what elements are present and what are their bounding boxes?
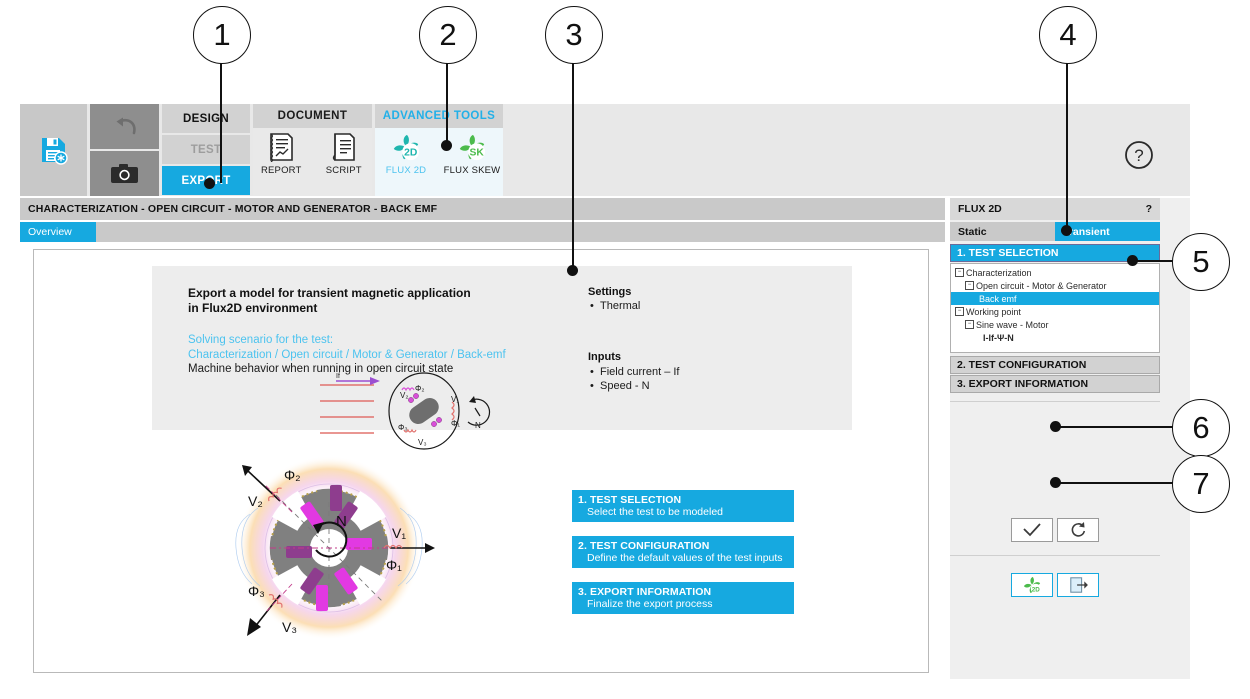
step-box-1: 1. TEST SELECTION Select the test to be … <box>572 490 794 522</box>
svg-text:N: N <box>475 421 481 430</box>
svg-text:If: If <box>336 373 340 380</box>
tab-static[interactable]: Static <box>950 222 1055 241</box>
reset-icon <box>1069 521 1087 539</box>
inputs-list: •Field current – If •Speed - N <box>590 365 679 393</box>
report-icon <box>268 132 294 162</box>
application-window: DESIGN TEST EXPORT DOCUMENT REPORT <box>20 104 1190 679</box>
section-test-selection-label: 1. TEST SELECTION <box>957 247 1059 259</box>
summary-heading-line1: Export a model for transient magnetic ap… <box>188 286 471 301</box>
step-desc: Define the default values of the test in… <box>578 552 794 565</box>
export-file-icon <box>1067 576 1089 594</box>
callout-3: 3 <box>545 6 603 64</box>
summary-panel: Export a model for transient magnetic ap… <box>152 266 852 430</box>
settings-item-label: Thermal <box>600 300 640 312</box>
svg-text:?: ? <box>1134 146 1143 165</box>
section-export-information[interactable]: 3. EXPORT INFORMATION <box>950 375 1160 393</box>
callout-leader-6 <box>1055 426 1173 428</box>
callout-leader-5 <box>1133 260 1173 262</box>
test-tree[interactable]: −Characterization −Open circuit - Motor … <box>950 263 1160 353</box>
right-panel-header: FLUX 2D ? <box>950 198 1160 220</box>
callout-dot-4 <box>1061 225 1072 236</box>
summary-heading-line2: in Flux2D environment <box>188 301 471 316</box>
right-panel-help-icon[interactable]: ? <box>1146 203 1152 215</box>
flux-skew-button[interactable]: SK FLUX SKEW <box>442 132 502 176</box>
callout-number: 7 <box>1192 466 1209 502</box>
svg-text:V₃: V₃ <box>282 619 297 635</box>
reset-button[interactable] <box>1057 518 1099 542</box>
group-body-advanced-tools: 2D FLUX 2D SK FLUX <box>375 128 503 196</box>
svg-text:2D: 2D <box>1032 586 1040 593</box>
report-label: REPORT <box>261 165 302 176</box>
svg-text:Φ₃: Φ₃ <box>248 583 265 599</box>
settings-item: •Thermal <box>590 300 640 312</box>
summary-heading: Export a model for transient magnetic ap… <box>188 286 471 316</box>
step-desc: Select the test to be modeled <box>578 506 794 519</box>
tree-item-label: Characterization <box>966 268 1032 278</box>
flux-skew-icon: SK <box>457 132 487 162</box>
tree-item[interactable]: −Sine wave - Motor <box>951 318 1159 331</box>
motor-cross-section-diagram: V₁ Φ₁ V₂ Φ₂ Φ₃ V₃ N <box>214 446 444 651</box>
callout-leader-2 <box>446 62 448 144</box>
svg-text:Φ₁: Φ₁ <box>451 419 460 428</box>
expander-icon[interactable]: − <box>955 268 964 277</box>
inputs-item-label: Speed - N <box>600 380 650 392</box>
tree-item[interactable]: −Working point <box>951 305 1159 318</box>
page-title-text: CHARACTERIZATION - OPEN CIRCUIT - MOTOR … <box>28 203 437 215</box>
step-box-2: 2. TEST CONFIGURATION Define the default… <box>572 536 794 568</box>
svg-text:Φ₂: Φ₂ <box>415 384 425 393</box>
callout-number: 2 <box>439 17 456 53</box>
svg-text:V₂: V₂ <box>400 391 408 400</box>
tab-overview-label: Overview <box>28 226 72 238</box>
callout-dot-3 <box>567 265 578 276</box>
expander-icon[interactable]: − <box>965 281 974 290</box>
section-test-configuration[interactable]: 2. TEST CONFIGURATION <box>950 356 1160 374</box>
right-panel: FLUX 2D ? Static Transient 1. TEST SELEC… <box>950 198 1190 679</box>
callout-number: 1 <box>213 17 230 53</box>
callout-number: 3 <box>565 17 582 53</box>
undo-icon <box>112 115 138 139</box>
group-title-document: DOCUMENT <box>253 104 372 128</box>
scenario-block: Solving scenario for the test: Character… <box>188 333 506 363</box>
tree-item-label: Working point <box>966 307 1021 317</box>
svg-text:N: N <box>336 513 347 530</box>
tree-item-label: I-If-Ψ-N <box>983 333 1014 343</box>
tree-item-label: Open circuit - Motor & Generator <box>976 281 1107 291</box>
mode-test[interactable]: TEST <box>162 135 250 164</box>
scenario-path: Characterization / Open circuit / Motor … <box>188 348 506 363</box>
step-title: 3. EXPORT INFORMATION <box>578 586 794 598</box>
tab-static-label: Static <box>958 226 987 238</box>
camera-icon <box>111 163 138 184</box>
flux-2d-icon: 2D <box>391 132 421 162</box>
tab-bar: Overview <box>20 222 945 242</box>
flux-skew-label: FLUX SKEW <box>444 165 501 176</box>
callout-leader-3 <box>572 62 574 269</box>
flux-2d-icon: 2D <box>1021 575 1043 595</box>
callout-4: 4 <box>1039 6 1097 64</box>
save-button[interactable] <box>20 104 87 196</box>
tree-item-selected[interactable]: Back emf <box>951 292 1159 305</box>
group-title-advanced-tools: ADVANCED TOOLS <box>375 104 503 128</box>
check-icon <box>1021 523 1043 537</box>
script-icon <box>331 132 357 162</box>
svg-text:Φ₃: Φ₃ <box>398 423 408 432</box>
callout-dot-1 <box>204 178 215 189</box>
save-icon <box>39 135 69 165</box>
section-test-configuration-label: 2. TEST CONFIGURATION <box>957 359 1086 371</box>
callout-leader-1 <box>220 62 222 183</box>
panel-divider <box>950 401 1160 402</box>
svg-text:V₂: V₂ <box>248 493 263 509</box>
tree-item-label: Back emf <box>979 294 1017 304</box>
expander-icon[interactable]: − <box>955 307 964 316</box>
scenario-label: Solving scenario for the test: <box>188 333 506 348</box>
callout-dot-2 <box>441 140 452 151</box>
settings-heading: Settings <box>588 286 631 298</box>
panel-divider-2 <box>950 555 1160 556</box>
svg-text:V₁: V₁ <box>392 525 406 541</box>
callout-7: 7 <box>1172 455 1230 513</box>
tree-item[interactable]: I-If-Ψ-N <box>951 331 1159 344</box>
callout-dot-6 <box>1050 421 1061 432</box>
callout-1: 1 <box>193 6 251 64</box>
page-title: CHARACTERIZATION - OPEN CIRCUIT - MOTOR … <box>20 198 945 220</box>
step-desc: Finalize the export process <box>578 598 794 611</box>
circuit-diagram: If V₂ Φ₂ V₁ Φ₁ <box>312 372 512 450</box>
export-flux2d-button[interactable]: 2D <box>1011 573 1053 597</box>
validate-reset-row <box>950 518 1160 542</box>
ribbon-toolbar: DESIGN TEST EXPORT DOCUMENT REPORT <box>20 104 1190 196</box>
flux-2d-label: FLUX 2D <box>386 165 426 176</box>
history-buttons <box>90 104 159 196</box>
callout-leader-7 <box>1055 482 1173 484</box>
callout-2: 2 <box>419 6 477 64</box>
step-title: 1. TEST SELECTION <box>578 494 794 506</box>
step-title: 2. TEST CONFIGURATION <box>578 540 794 552</box>
script-button[interactable]: SCRIPT <box>316 132 373 176</box>
ribbon-group-advanced-tools: ADVANCED TOOLS 2D FLUX 2D <box>375 104 503 196</box>
inputs-item-label: Field current – If <box>600 366 679 378</box>
section-export-information-label: 3. EXPORT INFORMATION <box>957 378 1088 390</box>
tab-overview[interactable]: Overview <box>20 222 96 242</box>
screenshot-button[interactable] <box>90 151 159 196</box>
callout-number: 5 <box>1192 244 1209 280</box>
svg-text:Φ₂: Φ₂ <box>284 467 301 483</box>
export-row: 2D <box>950 573 1160 597</box>
tree-item[interactable]: −Open circuit - Motor & Generator <box>951 279 1159 292</box>
export-file-button[interactable] <box>1057 573 1099 597</box>
group-body-document: REPORT SCRIPT <box>253 128 372 196</box>
mode-design[interactable]: DESIGN <box>162 104 250 133</box>
svg-text:Φ₁: Φ₁ <box>386 557 402 573</box>
callout-dot-7 <box>1050 477 1061 488</box>
callout-5: 5 <box>1172 233 1230 291</box>
right-panel-title: FLUX 2D <box>958 203 1002 215</box>
inputs-heading: Inputs <box>588 351 621 363</box>
ribbon-group-document: DOCUMENT REPORT <box>253 104 372 196</box>
tree-item-label: Sine wave - Motor <box>976 320 1049 330</box>
script-label: SCRIPT <box>326 165 362 176</box>
callout-6: 6 <box>1172 399 1230 457</box>
mode-design-label: DESIGN <box>183 113 229 125</box>
mode-test-label: TEST <box>191 144 222 156</box>
overview-card: Export a model for transient magnetic ap… <box>33 249 929 673</box>
help-button[interactable]: ? <box>1124 140 1154 170</box>
svg-text:2D: 2D <box>404 147 417 158</box>
callout-number: 6 <box>1192 410 1209 446</box>
callout-dot-5 <box>1127 255 1138 266</box>
undo-button[interactable] <box>90 104 159 149</box>
svg-text:SK: SK <box>470 147 485 158</box>
inputs-item: •Speed - N <box>590 379 679 393</box>
flux-2d-button[interactable]: 2D FLUX 2D <box>376 132 436 176</box>
callout-leader-4 <box>1066 62 1068 229</box>
tree-item[interactable]: −Characterization <box>951 266 1159 279</box>
step-box-3: 3. EXPORT INFORMATION Finalize the expor… <box>572 582 794 614</box>
report-button[interactable]: REPORT <box>253 132 310 176</box>
inputs-item: •Field current – If <box>590 365 679 379</box>
svg-text:V₁: V₁ <box>451 395 459 404</box>
right-panel-tabs: Static Transient <box>950 222 1160 241</box>
help-icon: ? <box>1124 140 1154 170</box>
callout-number: 4 <box>1059 17 1076 53</box>
expander-icon[interactable]: − <box>965 320 974 329</box>
validate-button[interactable] <box>1011 518 1053 542</box>
